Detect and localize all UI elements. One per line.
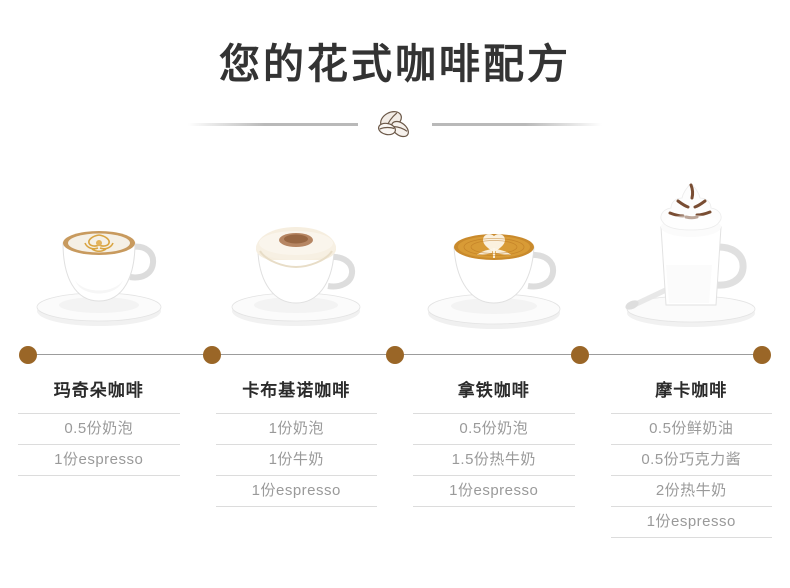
coffee-cups-row [0, 175, 790, 335]
recipe-column-cappuccino: 卡布基诺咖啡 1份奶泡 1份牛奶 1份espresso [198, 378, 396, 538]
recipe-column-macchiato: 玛奇朵咖啡 0.5份奶泡 1份espresso [0, 378, 198, 538]
ingredient-list: 1份奶泡 1份牛奶 1份espresso [216, 413, 378, 507]
ingredient-item: 1份奶泡 [216, 413, 378, 445]
ingredient-item: 0.5份鲜奶油 [611, 413, 773, 445]
ingredient-item: 0.5份奶泡 [413, 413, 575, 445]
ingredient-list: 0.5份奶泡 1.5份热牛奶 1份espresso [413, 413, 575, 507]
ornament-divider [0, 107, 790, 141]
coffee-recipe-infographic: 您的花式咖啡配方 [0, 0, 790, 588]
page-title: 您的花式咖啡配方 [0, 40, 790, 89]
cup-cell-macchiato [0, 175, 198, 335]
timeline-dot [203, 346, 221, 364]
cup-cell-latte [395, 175, 593, 335]
recipe-title: 卡布基诺咖啡 [216, 378, 378, 413]
recipe-column-latte: 拿铁咖啡 0.5份奶泡 1.5份热牛奶 1份espresso [395, 378, 593, 538]
timeline-divider [0, 344, 790, 366]
ingredient-item: 0.5份巧克力酱 [611, 445, 773, 476]
coffee-mug-mocha-icon [606, 175, 776, 335]
ingredient-item: 1份牛奶 [216, 445, 378, 476]
timeline-dot [753, 346, 771, 364]
ingredient-list: 0.5份奶泡 1份espresso [18, 413, 180, 476]
ingredient-item: 1份espresso [413, 476, 575, 507]
recipe-title: 摩卡咖啡 [611, 378, 773, 413]
ingredient-item: 1份espresso [216, 476, 378, 507]
recipe-title: 玛奇朵咖啡 [18, 378, 180, 413]
timeline-dot [19, 346, 37, 364]
coffee-beans-icon [368, 107, 422, 141]
timeline-dot [571, 346, 589, 364]
coffee-cup-macchiato-icon [19, 185, 179, 335]
coffee-cup-latte-icon [414, 185, 574, 335]
cup-cell-mocha [593, 175, 790, 335]
ingredient-item: 2份热牛奶 [611, 476, 773, 507]
recipe-title: 拿铁咖啡 [413, 378, 575, 413]
coffee-cup-cappuccino-icon [216, 185, 376, 335]
ingredient-list: 0.5份鲜奶油 0.5份巧克力酱 2份热牛奶 1份espresso [611, 413, 773, 538]
header-block: 您的花式咖啡配方 [0, 0, 790, 141]
cup-cell-cappuccino [198, 175, 396, 335]
recipes-row: 玛奇朵咖啡 0.5份奶泡 1份espresso 卡布基诺咖啡 1份奶泡 1份牛奶… [0, 378, 790, 538]
recipe-column-mocha: 摩卡咖啡 0.5份鲜奶油 0.5份巧克力酱 2份热牛奶 1份espresso [593, 378, 790, 538]
ingredient-item: 1.5份热牛奶 [413, 445, 575, 476]
ingredient-item: 0.5份奶泡 [18, 413, 180, 445]
divider-line-left [188, 123, 358, 126]
ingredient-item: 1份espresso [611, 507, 773, 538]
timeline-dot [386, 346, 404, 364]
ingredient-item: 1份espresso [18, 445, 180, 476]
divider-line-right [432, 123, 602, 126]
